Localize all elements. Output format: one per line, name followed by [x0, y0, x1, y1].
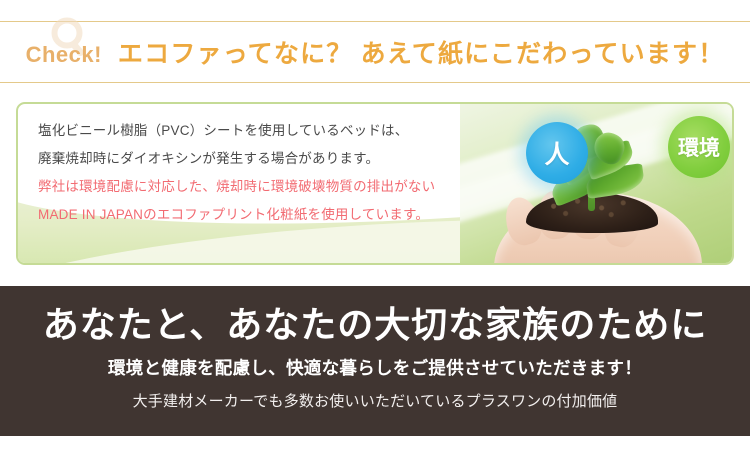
badge-person-label: 人: [544, 135, 569, 171]
eco-description-line-3: 弊社は環境配慮に対応した、焼却時に環境破壊物質の排出がない: [38, 176, 732, 198]
page-title: エコファってなに？ あえて紙にこだわっています！: [118, 34, 725, 70]
eco-description-line-2: 廃棄焼却時にダイオキシンが発生する場合があります。: [38, 148, 732, 170]
eco-info-box: 人 環境 塩化ビニール樹脂（PVC）シートを使用しているベッドは、 廃棄焼却時に…: [16, 102, 734, 265]
badge-person: 人: [526, 122, 588, 184]
footer-subtitle-primary: 環境と健康を配慮し、快適な暮らしをご提供させていただきます！: [108, 355, 642, 380]
check-header-band: Check! エコファってなに？ あえて紙にこだわっています！: [0, 21, 750, 83]
eco-description-line-1: 塩化ビニール樹脂（PVC）シートを使用しているベッドは、: [38, 120, 732, 142]
check-label: Check!: [26, 42, 102, 68]
badge-environment: 環境: [668, 116, 730, 178]
footer-title: あなたと、あなたの大切な家族のために: [43, 302, 708, 347]
eco-description-text: 塩化ビニール樹脂（PVC）シートを使用しているベッドは、 廃棄焼却時にダイオキシ…: [18, 104, 732, 225]
eco-description-line-4: MADE IN JAPANのエコファプリント化粧紙を使用しています。: [38, 204, 732, 226]
badge-environment-label: 環境: [678, 132, 720, 162]
footer-message-band: あなたと、あなたの大切な家族のために 環境と健康を配慮し、快適な暮らしをご提供さ…: [0, 286, 750, 436]
check-header-inner: Check! エコファってなに？ あえて紙にこだわっています！: [26, 34, 725, 70]
footer-subtitle-secondary: 大手建材メーカーでも多数お使いいただいているプラスワンの付加価値: [133, 390, 618, 411]
